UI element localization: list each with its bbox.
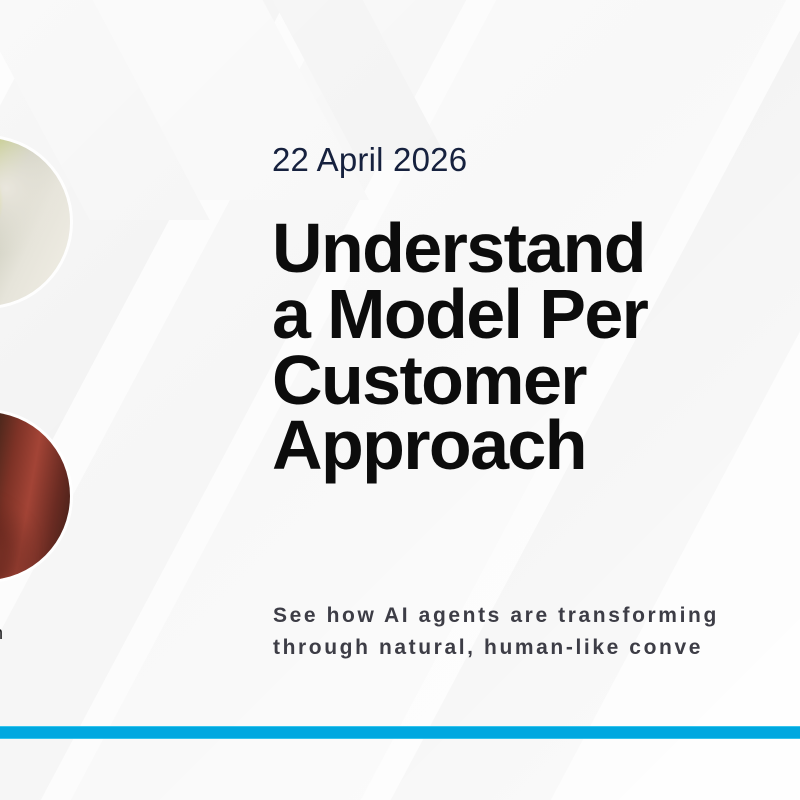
speaker-meta: mon Research <box>0 596 150 645</box>
speaker-card: mon Research <box>0 412 150 645</box>
headline-line-4: Approach <box>272 413 800 479</box>
headline-line-3: Customer <box>272 348 800 414</box>
banner-content: 22 April 2026 Understand a Model Per Cus… <box>272 0 800 800</box>
speaker-role: der <box>0 348 150 371</box>
subtitle-line-1: See how AI agents are transforming <box>273 600 800 632</box>
speaker-name: oy <box>0 322 150 346</box>
subtitle: See how AI agents are transforming throu… <box>273 600 800 663</box>
subtitle-line-2: through natural, human-like conve <box>273 632 800 664</box>
speaker-meta: oy der <box>0 322 150 371</box>
speaker-list: oy der mon Research <box>0 0 150 800</box>
avatar <box>0 412 70 580</box>
page-title: Understand a Model Per Customer Approach <box>272 216 800 479</box>
accent-bar <box>0 726 800 739</box>
speaker-card: oy der <box>0 138 150 371</box>
avatar <box>0 138 70 306</box>
event-date: 22 April 2026 <box>272 141 467 179</box>
speaker-role: Research <box>0 622 150 645</box>
headline-line-2: a Model Per <box>272 282 800 348</box>
headline-line-1: Understand <box>272 216 800 282</box>
webinar-promo-banner: oy der mon Research 22 April 2026 Unders… <box>0 0 800 800</box>
speaker-name: mon <box>0 596 150 620</box>
